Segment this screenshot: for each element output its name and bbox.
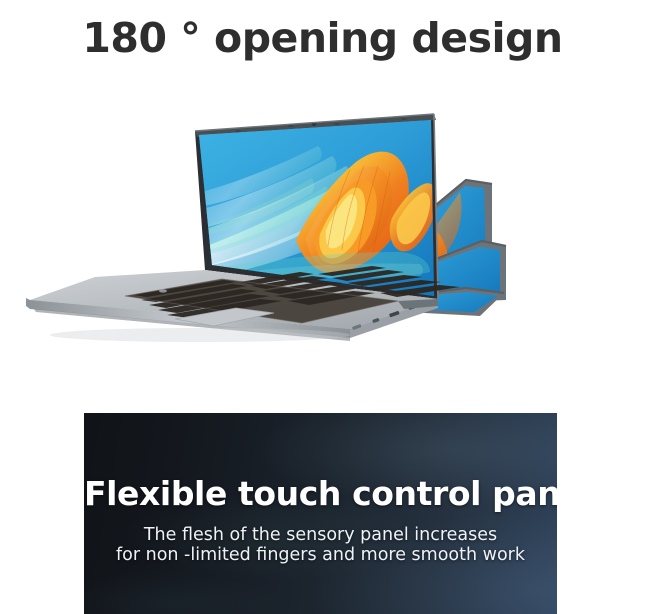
banner-subtitle: The flesh of the sensory panel increases… xyxy=(84,525,557,565)
laptop-illustration xyxy=(0,100,661,345)
banner-subtitle-line-2: for non -limited fingers and more smooth… xyxy=(84,545,557,565)
banner-subtitle-line-1: The flesh of the sensory panel increases xyxy=(84,525,557,545)
banner-heading: Flexible touch control panel xyxy=(84,474,557,513)
laptop-hero-image xyxy=(0,100,661,345)
product-feature-page: 180 ° opening design xyxy=(0,0,661,614)
page-title: 180 ° opening design xyxy=(0,14,645,62)
touch-panel-banner: Flexible touch control panel The flesh o… xyxy=(84,413,557,614)
laptop-base xyxy=(26,266,460,342)
banner-texture-overlay xyxy=(84,413,557,614)
